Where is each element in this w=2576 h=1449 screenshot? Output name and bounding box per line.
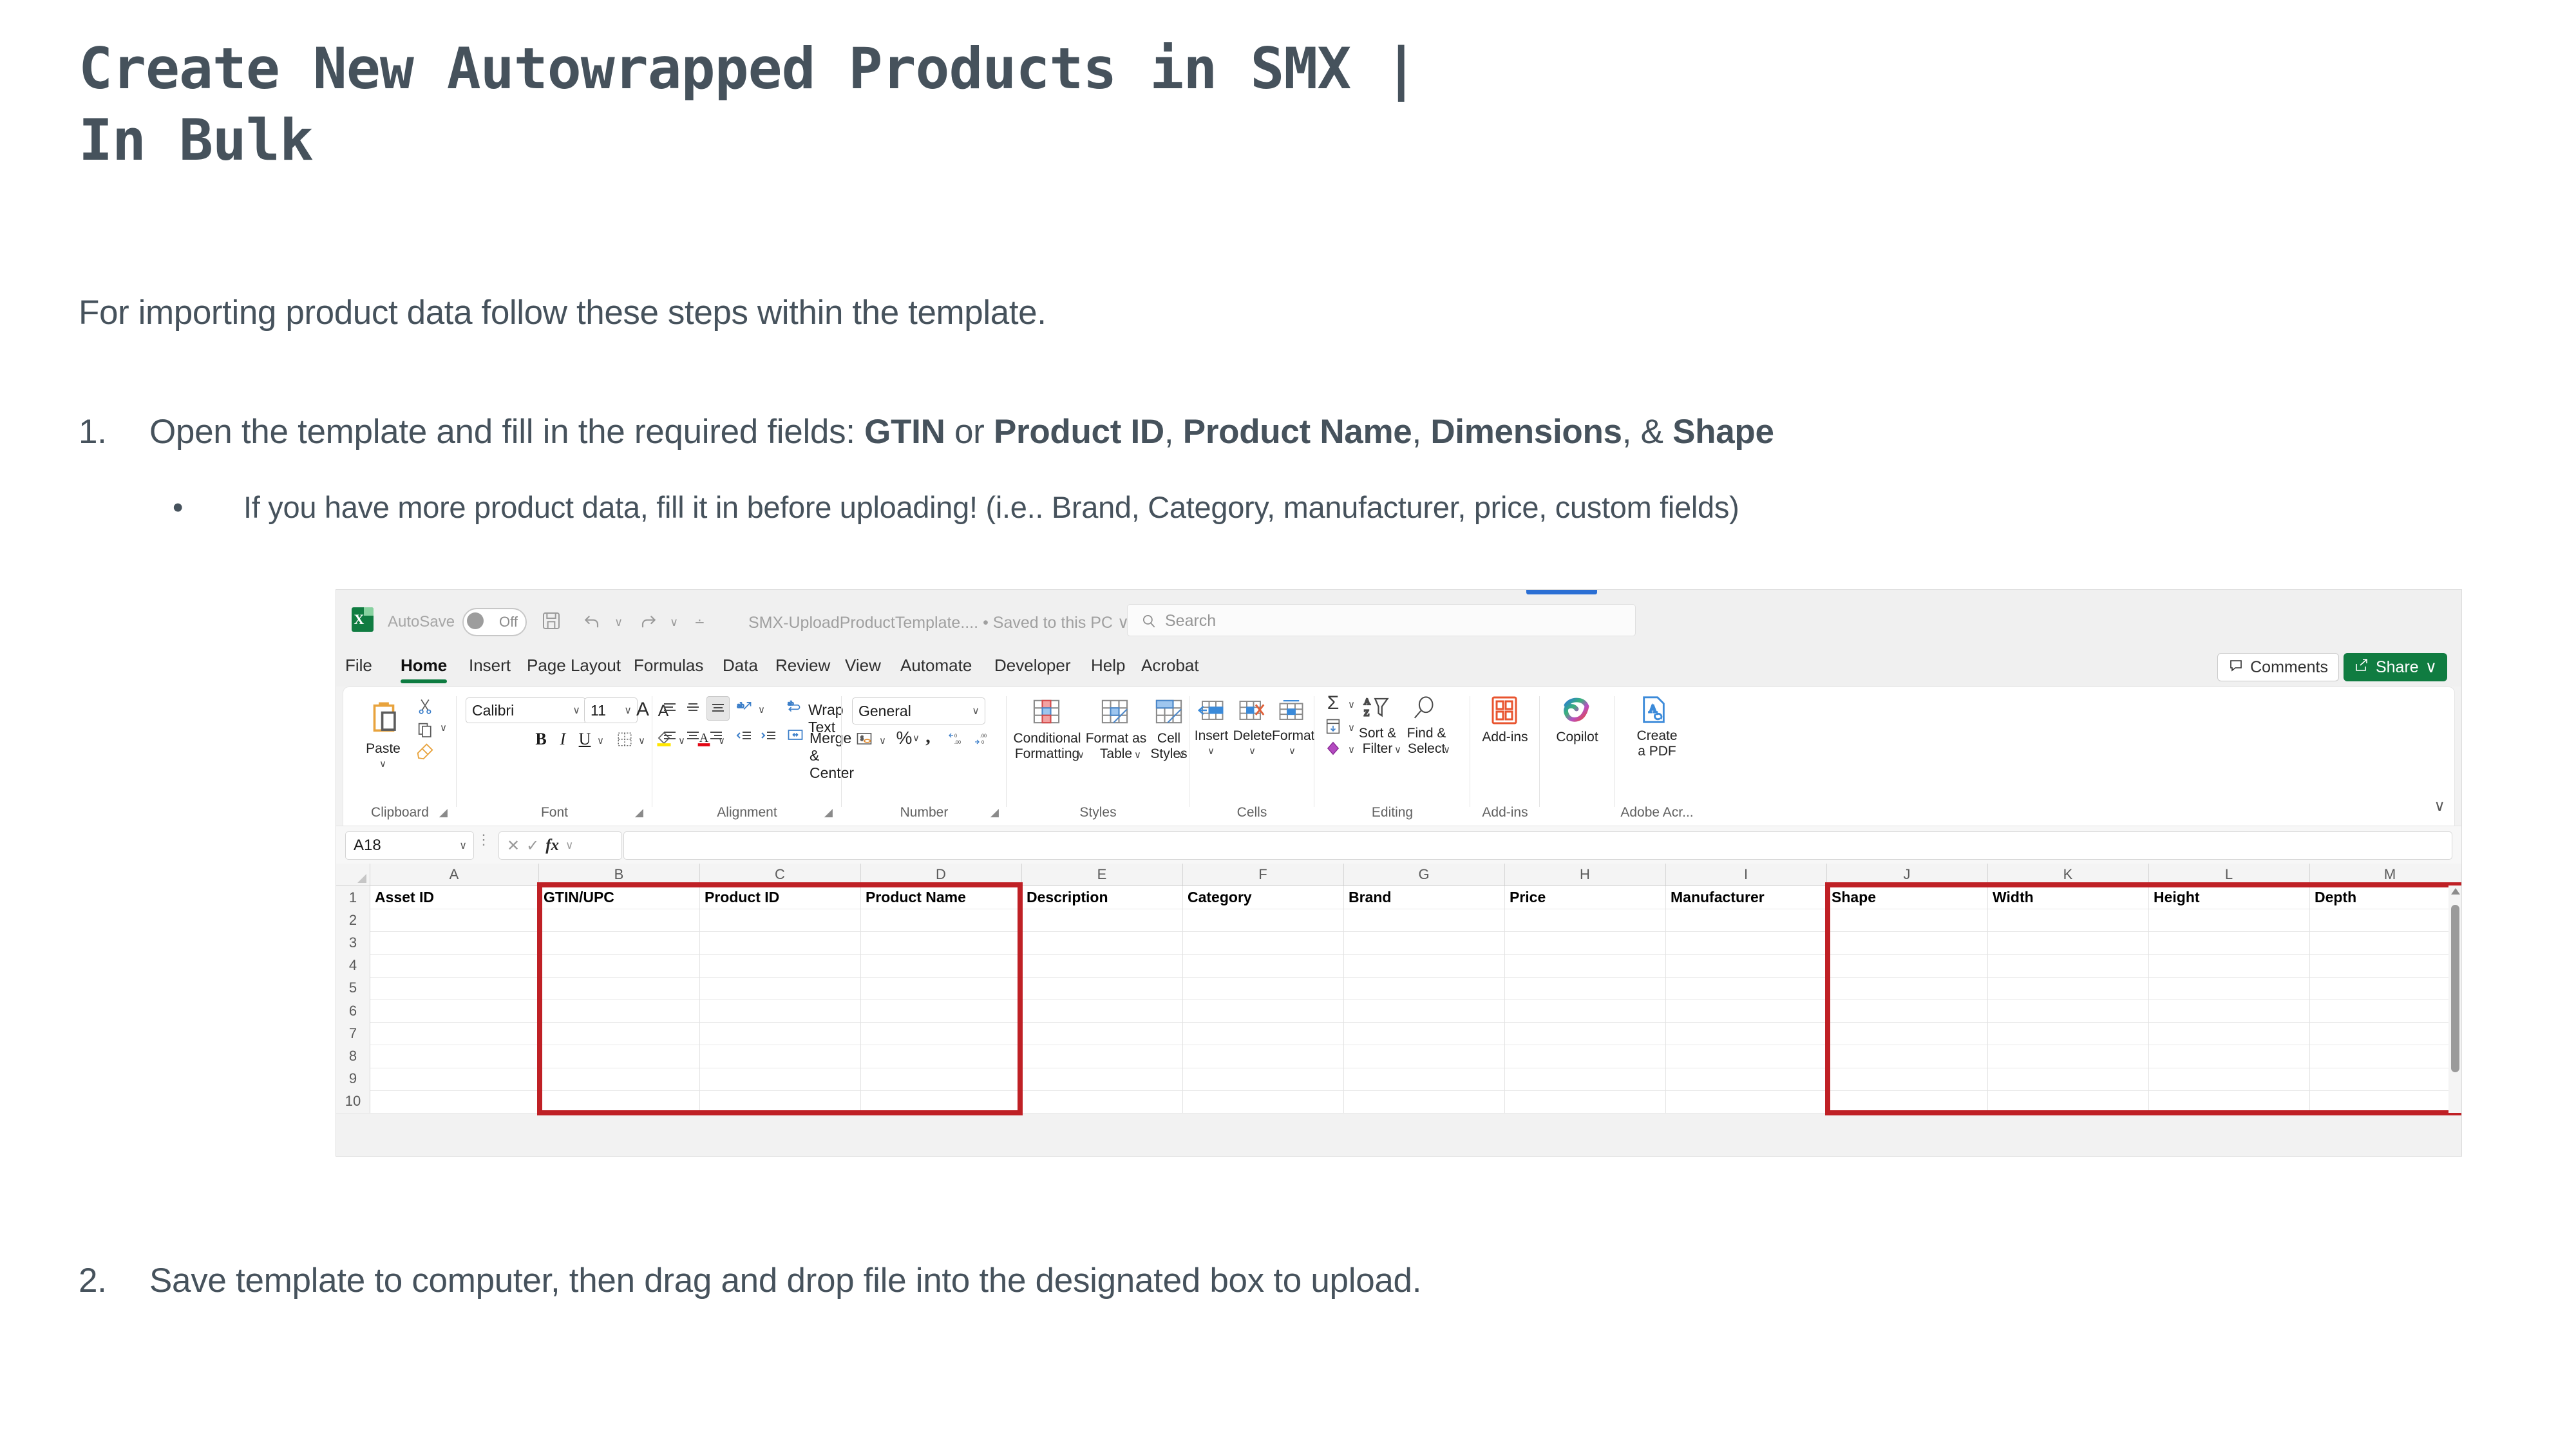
column-header-i[interactable]: I — [1665, 864, 1827, 885]
ribbon-group-alignment: ab ∨ ab Wrap Text — [652, 687, 842, 826]
column-header-d[interactable]: D — [860, 864, 1022, 885]
group-label-styles: Styles — [1007, 805, 1189, 820]
percent-style-button[interactable]: % — [895, 727, 914, 749]
comments-button[interactable]: Comments — [2217, 653, 2339, 681]
tab-review[interactable]: Review — [775, 656, 830, 676]
step-1-text: Open the template and fill in the requir… — [149, 412, 1774, 451]
align-top-icon[interactable] — [660, 699, 679, 717]
grid-line — [2309, 886, 2310, 1113]
formula-bar-overflow-icon[interactable]: ⋮ — [477, 835, 491, 844]
ribbon-group-number: General∨ $ ∨ % , 0.00 .000 Number ◢ — [842, 687, 1007, 826]
tab-page-layout[interactable]: Page Layout — [527, 656, 621, 676]
row-header-2[interactable]: 2 — [336, 909, 370, 932]
grid-line — [1665, 886, 1666, 1113]
row-header-1[interactable]: 1 — [336, 886, 370, 909]
paste-chevron-icon[interactable]: ∨ — [379, 758, 386, 770]
row-header-3[interactable]: 3 — [336, 931, 370, 954]
format-as-table-chevron-icon[interactable]: ∨ — [1134, 749, 1141, 761]
cell-J1[interactable]: Shape — [1826, 886, 1993, 909]
decrease-decimal-icon[interactable]: .000 — [971, 727, 994, 749]
column-header-h[interactable]: H — [1504, 864, 1666, 885]
grid-line — [370, 1068, 2461, 1068]
cell-L1[interactable]: Height — [2148, 886, 2315, 909]
column-header-c[interactable]: C — [699, 864, 861, 885]
row-header-10[interactable]: 10 — [336, 1090, 370, 1113]
conditional-formatting-label[interactable]: Conditional Formatting — [1007, 731, 1088, 762]
cell-M1[interactable]: Depth — [2309, 886, 2461, 909]
formula-controls: ✕ ✓ fx ∨ — [498, 831, 622, 860]
accounting-format-icon[interactable]: $ — [853, 728, 875, 749]
conditional-formatting-icon[interactable] — [1030, 696, 1063, 727]
grid-line — [699, 886, 700, 1113]
step-1: 1. Open the template and fill in the req… — [79, 412, 2268, 451]
number-format-chevron-icon: ∨ — [972, 705, 980, 717]
cell-K1[interactable]: Width — [1987, 886, 2154, 909]
insert-cells-label[interactable]: Insert — [1191, 728, 1232, 744]
font-family-select[interactable]: Calibri∨ — [466, 697, 586, 723]
svg-text:0: 0 — [954, 733, 957, 739]
column-header-row: ABCDEFGHIJKLM — [336, 864, 2461, 886]
grid-line — [370, 999, 2461, 1000]
grid-line — [370, 909, 2461, 909]
grid-line — [370, 977, 2461, 978]
group-label-cells: Cells — [1189, 805, 1314, 820]
align-middle-icon[interactable] — [683, 699, 703, 717]
number-format-select[interactable]: General∨ — [852, 697, 985, 724]
insert-cells-chevron-icon[interactable]: ∨ — [1207, 745, 1215, 757]
step-1-sub-bullet: • If you have more product data, fill it… — [173, 489, 2362, 525]
paste-label: Paste — [352, 741, 414, 757]
autosave-state: Off — [499, 614, 518, 630]
create-pdf-icon[interactable]: A — [1635, 694, 1672, 726]
row-header-9[interactable]: 9 — [336, 1068, 370, 1091]
customize-quick-access-icon[interactable]: ∸ — [694, 614, 705, 630]
increase-decimal-icon[interactable]: 0.00 — [945, 727, 968, 749]
column-header-m[interactable]: M — [2309, 864, 2461, 885]
cell-A1[interactable]: Asset ID — [370, 886, 544, 909]
wrap-text-icon[interactable]: ab — [785, 696, 804, 717]
ribbon-group-copilot: Copilot — [1540, 687, 1615, 826]
grid-line — [1343, 886, 1344, 1113]
grid-line — [370, 954, 2461, 955]
enter-formula-icon[interactable]: ✓ — [526, 837, 539, 855]
select-all-corner[interactable] — [336, 864, 370, 885]
grid-line — [370, 1090, 2461, 1091]
format-cells-icon[interactable] — [1276, 696, 1307, 724]
ribbon-tab-bar: File Home Insert Page Layout Formulas Da… — [336, 647, 2461, 687]
search-icon — [1141, 612, 1157, 632]
excel-window-screenshot: X AutoSave Off ∨ ∨ ∸ SMX-UploadProductTe… — [336, 590, 2461, 1156]
accounting-chevron-icon[interactable]: ∨ — [879, 735, 886, 746]
svg-text:A: A — [1649, 703, 1657, 715]
grid-line — [860, 886, 861, 1113]
orientation-icon[interactable]: ab — [734, 697, 754, 718]
name-box[interactable]: A18 ∨ — [345, 831, 474, 860]
excel-title-bar: X AutoSave Off ∨ ∨ ∸ SMX-UploadProductTe… — [336, 590, 2461, 647]
orientation-chevron-icon[interactable]: ∨ — [758, 704, 765, 715]
window-accent-bar — [1526, 590, 1597, 594]
group-label-number: Number — [842, 805, 1007, 820]
formula-bar-row: A18 ∨ ⋮ ✕ ✓ fx ∨ — [336, 826, 2461, 864]
cell-G1[interactable]: Brand — [1343, 886, 1510, 909]
tab-insert[interactable]: Insert — [469, 656, 511, 676]
column-header-l[interactable]: L — [2148, 864, 2310, 885]
find-select-chevron-icon[interactable]: ∨ — [1443, 744, 1450, 755]
redo-icon[interactable] — [638, 611, 658, 631]
cell-styles-label[interactable]: Cell Styles — [1143, 731, 1195, 762]
tab-automate[interactable]: Automate — [900, 656, 972, 676]
cell-styles-chevron-icon[interactable]: ∨ — [1178, 749, 1185, 761]
share-icon — [2354, 658, 2369, 677]
svg-text:.00: .00 — [954, 739, 961, 745]
delete-cells-label[interactable]: Delete — [1232, 728, 1273, 744]
identifiers-highlight — [537, 882, 1023, 1115]
autosave-toggle[interactable]: Off — [462, 608, 527, 636]
group-label-font: Font — [457, 805, 652, 820]
tab-acrobat[interactable]: Acrobat — [1141, 656, 1199, 676]
clear-icon[interactable] — [1322, 739, 1344, 758]
cell-E1[interactable]: Description — [1021, 886, 1188, 909]
group-label-editing: Editing — [1314, 805, 1470, 820]
share-button[interactable]: Share ∨ — [2344, 653, 2447, 681]
tab-formulas[interactable]: Formulas — [634, 656, 703, 676]
borders-icon[interactable] — [615, 730, 634, 749]
decrease-indent-icon[interactable] — [734, 727, 754, 745]
redo-dropdown-chevron-icon[interactable]: ∨ — [670, 616, 678, 629]
increase-indent-icon[interactable] — [758, 727, 779, 745]
cancel-formula-icon[interactable]: ✕ — [507, 837, 520, 855]
toggle-knob — [467, 612, 484, 629]
row-header-8[interactable]: 8 — [336, 1045, 370, 1068]
search-placeholder: Search — [1165, 612, 1216, 630]
grid-line — [538, 886, 539, 1113]
underline-button[interactable]: U — [576, 730, 593, 749]
grid-line — [370, 1022, 2461, 1023]
group-label-addins: Add-ins — [1470, 805, 1540, 820]
comma-style-button[interactable]: , — [920, 724, 936, 749]
italic-button[interactable]: I — [554, 730, 571, 749]
font-dialog-launcher-icon[interactable]: ◢ — [635, 806, 643, 819]
tab-home[interactable]: Home — [401, 656, 447, 676]
vertical-scrollbar[interactable] — [2448, 885, 2461, 1113]
step-2: 2. Save template to computer, then drag … — [79, 1261, 2268, 1300]
cell-D1[interactable]: Product Name — [860, 886, 1027, 909]
format-painter-icon[interactable] — [414, 741, 436, 762]
sub-bullet-text: If you have more product data, fill it i… — [243, 489, 1739, 525]
row-header-5[interactable]: 5 — [336, 977, 370, 1000]
step-2-marker: 2. — [79, 1261, 149, 1300]
fill-icon[interactable] — [1322, 717, 1344, 736]
page-title: Create New Autowrapped Products in SMX |… — [79, 33, 2204, 176]
dimensions-highlight — [1825, 882, 2461, 1115]
create-pdf-label[interactable]: Create a PDF — [1615, 728, 1700, 759]
tab-file[interactable]: File — [345, 656, 372, 676]
name-box-chevron-icon: ∨ — [459, 839, 467, 852]
active-tab-underline — [401, 679, 447, 683]
row-header-4[interactable]: 4 — [336, 954, 370, 978]
tab-developer[interactable]: Developer — [994, 656, 1071, 676]
delete-cells-chevron-icon[interactable]: ∨ — [1249, 745, 1256, 757]
column-header-f[interactable]: F — [1182, 864, 1344, 885]
collapse-ribbon-chevron-icon[interactable]: ∨ — [2434, 797, 2445, 815]
step-1-marker: 1. — [79, 412, 149, 451]
ribbon-group-cells: Insert ∨ Delete ∨ Format ∨ Cells — [1189, 687, 1314, 826]
format-cells-chevron-icon[interactable]: ∨ — [1289, 745, 1296, 757]
tab-view[interactable]: View — [845, 656, 881, 676]
number-dialog-launcher-icon[interactable]: ◢ — [990, 806, 999, 819]
grid-line — [1021, 886, 1022, 1113]
grid-line — [370, 931, 2461, 932]
merge-center-icon[interactable] — [785, 724, 806, 745]
copy-icon[interactable] — [414, 719, 436, 740]
row-header-7[interactable]: 7 — [336, 1022, 370, 1045]
grid-line — [1987, 886, 1988, 1113]
insert-cells-icon[interactable] — [1196, 696, 1227, 724]
search-box[interactable]: Search — [1127, 604, 1636, 636]
undo-dropdown-chevron-icon[interactable]: ∨ — [614, 616, 623, 629]
excel-icon: X — [352, 607, 374, 632]
column-header-e[interactable]: E — [1021, 864, 1183, 885]
column-header-g[interactable]: G — [1343, 864, 1505, 885]
copilot-icon[interactable] — [1558, 694, 1595, 727]
font-size-chevron-icon: ∨ — [624, 704, 632, 717]
increase-font-size-icon[interactable]: A — [634, 697, 651, 722]
grid-line — [1826, 886, 1827, 1113]
cut-icon[interactable] — [414, 696, 436, 717]
ribbon: Paste ∨ ∨ Clipboard ◢ — [343, 687, 2455, 826]
share-chevron-icon: ∨ — [2425, 658, 2437, 677]
ribbon-group-addins: Add-ins Add-ins — [1470, 687, 1540, 826]
ribbon-group-editing: Σ ∨ ∨ ∨ A Z Sort & Filter ∨ Fi — [1314, 687, 1470, 826]
formula-input[interactable] — [623, 831, 2452, 860]
align-left-icon[interactable] — [660, 727, 679, 745]
svg-text:A: A — [1364, 697, 1371, 707]
cell-C1[interactable]: Product ID — [699, 886, 866, 909]
copy-chevron-icon[interactable]: ∨ — [440, 722, 447, 734]
column-header-b[interactable]: B — [538, 864, 700, 885]
ribbon-group-clipboard: Paste ∨ ∨ Clipboard ◢ — [343, 687, 457, 826]
align-center-icon[interactable] — [683, 727, 703, 745]
cell-B1[interactable]: GTIN/UPC — [538, 886, 705, 909]
sort-filter-chevron-icon[interactable]: ∨ — [1394, 744, 1401, 755]
grid-line — [1182, 886, 1183, 1113]
scroll-up-arrow-icon[interactable] — [2451, 888, 2460, 895]
grid-line — [2148, 886, 2149, 1113]
autosum-icon[interactable]: Σ — [1322, 694, 1344, 713]
cell-H1[interactable]: Price — [1504, 886, 1671, 909]
underline-chevron-icon[interactable]: ∨ — [597, 735, 604, 746]
comment-bubble-icon — [2228, 658, 2244, 677]
grid-line — [370, 1045, 2461, 1045]
align-right-icon[interactable] — [706, 727, 726, 745]
ribbon-group-font: Calibri∨ 11∨ A A B I U ∨ ∨ ∨ A ∨ Font — [457, 687, 652, 826]
comments-label: Comments — [2250, 658, 2328, 677]
copilot-label[interactable]: Copilot — [1540, 730, 1615, 745]
format-as-table-icon[interactable] — [1098, 696, 1132, 727]
alignment-dialog-launcher-icon[interactable]: ◢ — [824, 806, 833, 819]
share-label: Share — [2376, 658, 2419, 677]
tab-data[interactable]: Data — [723, 656, 758, 676]
delete-cells-icon[interactable] — [1236, 696, 1267, 724]
column-header-a[interactable]: A — [370, 864, 539, 885]
add-ins-label[interactable]: Add-ins — [1470, 730, 1540, 745]
add-ins-icon[interactable] — [1486, 694, 1523, 727]
clipboard-dialog-launcher-icon[interactable]: ◢ — [439, 806, 448, 819]
row-header-6[interactable]: 6 — [336, 999, 370, 1023]
ribbon-group-styles: Conditional Formatting ∨ Format as Table… — [1007, 687, 1189, 826]
svg-text:Z: Z — [1364, 708, 1370, 718]
sort-filter-icon[interactable]: A Z — [1361, 694, 1392, 722]
svg-text:ab: ab — [788, 700, 793, 707]
autosave-label: AutoSave — [388, 613, 455, 631]
paste-icon[interactable] — [361, 696, 406, 740]
bullet-marker: • — [173, 489, 243, 525]
group-label-alignment: Alignment — [652, 805, 842, 820]
tab-help[interactable]: Help — [1091, 656, 1125, 676]
cell-styles-icon[interactable] — [1152, 696, 1186, 727]
worksheet-grid[interactable]: ABCDEFGHIJKLM 12345678910Asset IDGTIN/UP… — [336, 864, 2461, 1113]
group-label-adobe: Adobe Acr... — [1615, 805, 1700, 820]
svg-text:0: 0 — [981, 739, 984, 745]
ribbon-group-adobe-acrobat: A Create a PDF Adobe Acr... — [1615, 687, 1700, 826]
subtitle: For importing product data follow these … — [79, 293, 1046, 332]
find-select-icon[interactable] — [1410, 694, 1438, 722]
font-size-select[interactable]: 11∨ — [584, 697, 638, 723]
bold-button[interactable]: B — [533, 730, 549, 749]
undo-icon[interactable] — [582, 611, 603, 631]
scrollbar-thumb[interactable] — [2451, 905, 2459, 1072]
column-header-k[interactable]: K — [1987, 864, 2149, 885]
borders-chevron-icon[interactable]: ∨ — [638, 735, 645, 746]
save-icon[interactable] — [541, 611, 562, 631]
align-bottom-icon[interactable] — [706, 696, 730, 721]
cell-I1[interactable]: Manufacturer — [1665, 886, 1832, 909]
font-family-chevron-icon: ∨ — [573, 704, 580, 717]
format-cells-label[interactable]: Format — [1272, 728, 1313, 744]
document-title[interactable]: SMX-UploadProductTemplate.... • Saved to… — [748, 613, 1129, 632]
cell-F1[interactable]: Category — [1182, 886, 1349, 909]
formula-chevron-icon[interactable]: ∨ — [565, 839, 573, 852]
autosum-chevron-icon[interactable]: ∨ — [1348, 699, 1355, 710]
svg-text:$: $ — [860, 735, 864, 742]
grid-line — [1504, 886, 1505, 1113]
insert-function-icon[interactable]: fx — [545, 837, 559, 855]
column-header-j[interactable]: J — [1826, 864, 1988, 885]
step-2-text: Save template to computer, then drag and… — [149, 1261, 1421, 1300]
svg-text:ab: ab — [737, 701, 744, 710]
grid-line — [370, 1113, 2461, 1113]
svg-text:.00: .00 — [980, 733, 987, 739]
